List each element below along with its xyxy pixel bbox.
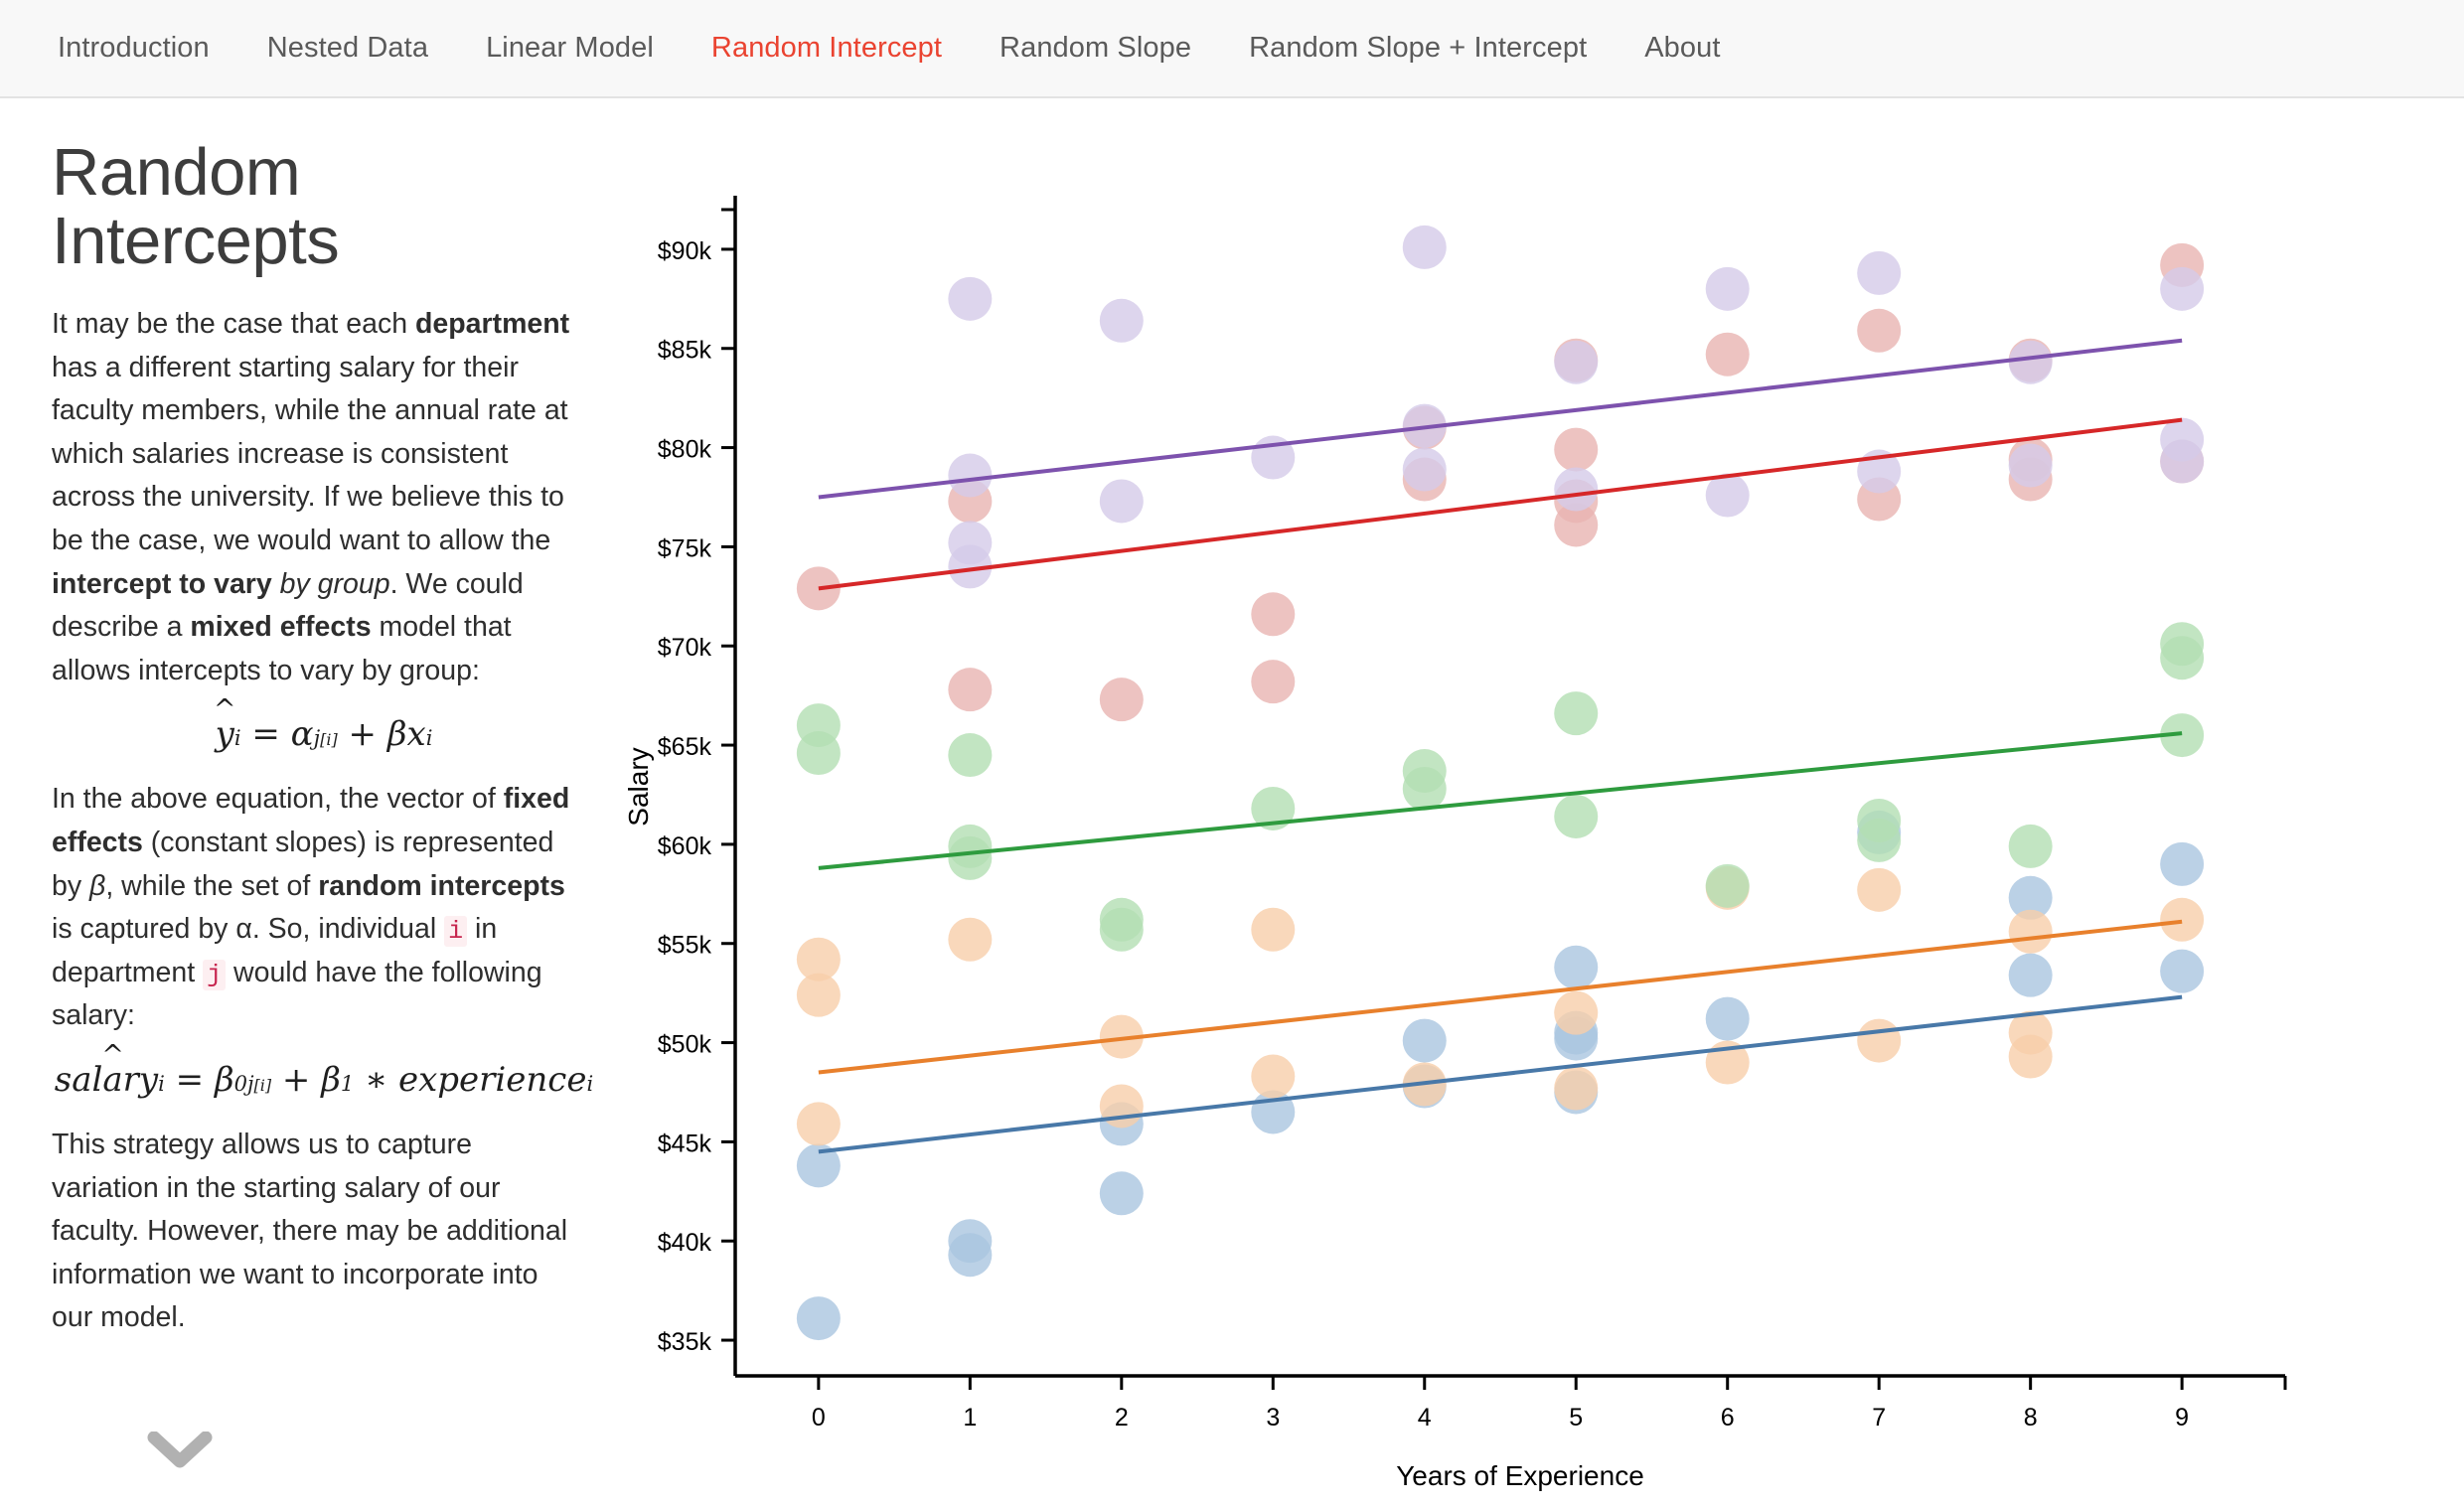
data-point [1100, 908, 1144, 952]
nav-item-random-slope-intercept[interactable]: Random Slope + Intercept [1249, 32, 1587, 65]
y-tick-label: $80k [658, 436, 712, 464]
para1-italic-by-group: by group [272, 568, 390, 600]
data-point [1554, 428, 1598, 472]
y-tick-label: $50k [658, 1031, 712, 1059]
data-point [1554, 1066, 1598, 1110]
data-point [1403, 226, 1447, 269]
regression-line-group-red [819, 420, 2182, 589]
page-title: Random Intercepts [52, 138, 350, 275]
data-point [2160, 440, 2204, 484]
data-point [1706, 333, 1750, 377]
data-point [797, 1102, 841, 1145]
top-navigation-bar: IntroductionNested DataLinear ModelRando… [0, 0, 2464, 98]
para1-seg-a: It may be the case that each [52, 308, 415, 340]
data-point [1857, 1019, 1901, 1063]
data-point [797, 1296, 841, 1340]
para2-seg-f: is captured by α. So, individual [52, 913, 444, 945]
data-point [1100, 1084, 1144, 1128]
data-point [1554, 795, 1598, 838]
nav-item-random-intercept[interactable]: Random Intercept [711, 32, 942, 65]
equation-random-intercept-model: yi = αj[i] + βxi [52, 714, 596, 754]
data-point [2160, 898, 2204, 942]
data-point [2160, 842, 2204, 886]
data-point [1403, 1019, 1447, 1063]
code-chip-j: j [203, 960, 226, 990]
plot-svg: $35k$40k$45k$50k$55k$60k$65k$70k$75k$80k… [596, 98, 2464, 1508]
regression-line-group-green [819, 733, 2182, 868]
data-point [1554, 991, 1598, 1035]
x-tick-label: 5 [1569, 1404, 1583, 1432]
data-point [948, 836, 992, 880]
y-tick-label: $55k [658, 932, 712, 960]
data-point [1554, 691, 1598, 735]
points-group-green [797, 622, 2204, 952]
data-point [2160, 267, 2204, 311]
nav-item-introduction[interactable]: Introduction [58, 32, 210, 65]
code-chip-i: i [444, 916, 467, 947]
data-point [948, 277, 992, 321]
data-point [1403, 448, 1447, 492]
data-point [1857, 819, 1901, 862]
data-point [2009, 1035, 2053, 1079]
data-point [2009, 444, 2053, 488]
y-tick-label: $40k [658, 1229, 712, 1257]
data-point [1251, 1055, 1295, 1099]
regression-lines-layer [819, 341, 2182, 1152]
data-point [1251, 660, 1295, 703]
data-point [1857, 868, 1901, 912]
article-text-column: Random Intercepts It may be the case tha… [0, 98, 596, 1508]
data-point [1251, 908, 1295, 952]
para2-seg-d: , while the set of [105, 870, 318, 902]
data-point [1100, 479, 1144, 523]
y-axis-label: Salary [623, 747, 654, 826]
chevron-down-icon[interactable] [147, 1432, 213, 1475]
x-axis-label: Years of Experience [1396, 1460, 1644, 1491]
x-tick-label: 4 [1418, 1404, 1432, 1432]
x-tick-label: 6 [1721, 1404, 1735, 1432]
x-tick-label: 9 [2175, 1404, 2189, 1432]
data-point [948, 454, 992, 498]
para1-bold-mixed-effects: mixed effects [190, 611, 371, 643]
scatter-points-layer [797, 226, 2204, 1340]
data-point [1554, 468, 1598, 512]
data-point [1706, 864, 1750, 908]
data-point [948, 918, 992, 962]
x-tick-label: 2 [1115, 1404, 1129, 1432]
x-tick-label: 8 [2024, 1404, 2038, 1432]
para1-seg-c: has a different starting salary for thei… [52, 352, 568, 556]
main-content: Random Intercepts It may be the case tha… [0, 98, 2464, 1508]
para1-bold-department: department [415, 308, 569, 340]
data-point [948, 668, 992, 711]
points-group-red [797, 243, 2204, 721]
nav-item-nested-data[interactable]: Nested Data [267, 32, 428, 65]
regression-line-group-blue [819, 997, 2182, 1152]
data-point [1100, 1171, 1144, 1215]
y-tick-label: $35k [658, 1328, 712, 1356]
data-point [1857, 251, 1901, 295]
salary-vs-experience-scatter-chart: $35k$40k$45k$50k$55k$60k$65k$70k$75k$80k… [596, 98, 2464, 1508]
nav-item-linear-model[interactable]: Linear Model [486, 32, 654, 65]
para2-bold-random-intercepts: random intercepts [318, 870, 565, 902]
data-point [2009, 954, 2053, 997]
points-group-orange [797, 866, 2204, 1146]
data-point [2009, 910, 2053, 954]
data-point [1100, 678, 1144, 721]
y-tick-label: $45k [658, 1130, 712, 1157]
para2-beta-symbol: β [89, 870, 105, 902]
paragraph-fixed-effects: In the above equation, the vector of fix… [52, 778, 583, 1038]
data-point [2009, 825, 2053, 868]
paragraph-conclusion: This strategy allows us to capture varia… [52, 1124, 583, 1340]
regression-line-group-orange [819, 922, 2182, 1073]
data-point [1554, 341, 1598, 384]
regression-line-group-purple [819, 341, 2182, 498]
x-tick-label: 0 [812, 1404, 826, 1432]
data-point [1251, 592, 1295, 636]
paragraph-intro: It may be the case that each department … [52, 303, 583, 692]
data-point [2160, 950, 2204, 993]
x-tick-label: 7 [1872, 1404, 1886, 1432]
nav-item-random-slope[interactable]: Random Slope [1000, 32, 1191, 65]
x-tick-label: 1 [963, 1404, 977, 1432]
data-point [1857, 309, 1901, 353]
data-point [948, 733, 992, 777]
para1-bold-intercept-vary: intercept to vary [52, 568, 272, 600]
data-point [797, 731, 841, 775]
y-tick-label: $60k [658, 832, 712, 860]
equation-salary-model: salaryi = β0j[i] + β1 ∗ experiencei [52, 1060, 596, 1100]
data-point [797, 974, 841, 1017]
x-tick-label: 3 [1266, 1404, 1280, 1432]
nav-item-about[interactable]: About [1644, 32, 1720, 65]
y-tick-label: $70k [658, 634, 712, 662]
para2-seg-a: In the above equation, the vector of [52, 783, 504, 815]
y-tick-label: $65k [658, 733, 712, 761]
data-point [2009, 341, 2053, 384]
data-point [1554, 946, 1598, 989]
data-point [1403, 767, 1447, 811]
data-point [1706, 267, 1750, 311]
y-tick-label: $75k [658, 534, 712, 562]
data-point [2160, 636, 2204, 679]
y-tick-label: $85k [658, 337, 712, 365]
y-tick-label: $90k [658, 237, 712, 265]
data-point [1706, 997, 1750, 1041]
data-point [948, 1233, 992, 1277]
data-point [1100, 299, 1144, 343]
